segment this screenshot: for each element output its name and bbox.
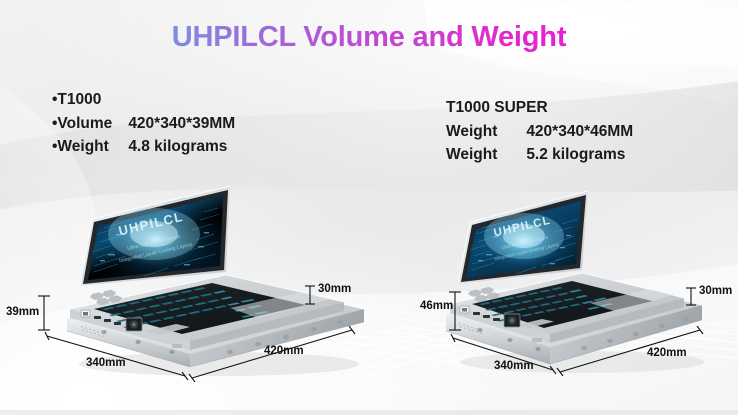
dimension-label-height-rear-left: 30mm: [318, 283, 351, 295]
dimension-label-height-front-left: 39mm: [6, 306, 39, 318]
spec-model-line: T1000 SUPER: [446, 96, 633, 120]
dimension-label-width-right: 340mm: [494, 360, 534, 372]
spec-volume-line: •Volume 420*340*39MM: [52, 112, 235, 136]
dimension-label-depth-left: 420mm: [264, 345, 304, 357]
base-label-plate: [532, 338, 542, 342]
spec-volume-value: 420*340*39MM: [128, 112, 235, 136]
spec-volume-label: •Volume: [52, 112, 124, 136]
dimension-label-depth-right: 420mm: [647, 347, 687, 359]
spec-weight-line: Weight 5.2 kilograms: [446, 143, 633, 167]
spec-weight-label: •Weight: [52, 135, 124, 159]
base-label-plate: [172, 344, 182, 348]
spec-volume-value: 420*340*46MM: [526, 120, 633, 144]
slide-canvas: UHPILCL Volume and Weight •T1000 •Volume…: [0, 0, 738, 415]
device-image-t1000-super: UHPILCL Ultra High Performance Integrate…: [424, 178, 724, 370]
spec-volume-label: Weight: [446, 120, 522, 144]
spec-weight-value: 5.2 kilograms: [526, 143, 625, 167]
dimension-label-height-front-right: 46mm: [420, 300, 453, 312]
spec-block-t1000-super: T1000 SUPER Weight 420*340*46MM Weight 5…: [446, 96, 633, 167]
spec-model-value: •T1000: [52, 88, 101, 112]
page-title: UHPILCL Volume and Weight: [0, 21, 738, 54]
spec-volume-line: Weight 420*340*46MM: [446, 120, 633, 144]
device-image-t1000: UHPILCL Ultra High Performance Integrate…: [34, 168, 384, 373]
spec-block-t1000: •T1000 •Volume 420*340*39MM •Weight 4.8 …: [52, 88, 235, 159]
spec-weight-label: Weight: [446, 143, 522, 167]
spec-weight-line: •Weight 4.8 kilograms: [52, 135, 235, 159]
dimension-label-width-left: 340mm: [86, 357, 126, 369]
spec-model-value: T1000 SUPER: [446, 96, 548, 120]
dimension-label-height-rear-right: 30mm: [699, 285, 732, 297]
spec-model-line: •T1000: [52, 88, 235, 112]
spec-weight-value: 4.8 kilograms: [128, 135, 227, 159]
